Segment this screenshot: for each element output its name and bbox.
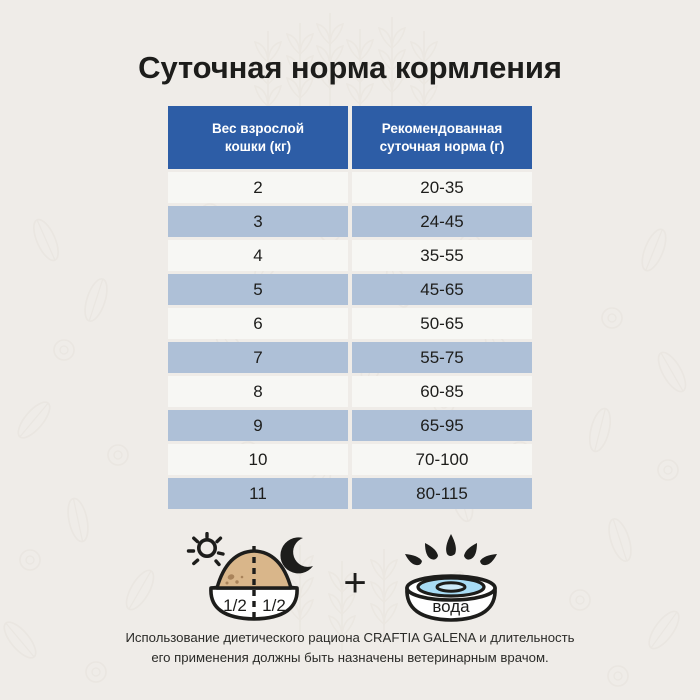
cell-norm: 70-100 [352,444,532,475]
table-row: 8 60-85 [168,376,532,407]
moon-icon [281,537,314,573]
table-row: 10 70-100 [168,444,532,475]
table-row: 6 50-65 [168,308,532,339]
splash-droplets [405,534,497,565]
table-header-norm-line2: суточная норма (г) [380,139,505,154]
table-row: 2 20-35 [168,172,532,203]
cell-norm: 80-115 [352,478,532,509]
table-row: 5 45-65 [168,274,532,305]
cell-weight: 11 [168,478,348,509]
cell-weight: 2 [168,172,348,203]
food-bowl-icon: 1/2 1/2 [179,532,329,624]
cell-weight: 5 [168,274,348,305]
cell-weight: 3 [168,206,348,237]
cell-norm: 50-65 [352,308,532,339]
cell-weight: 4 [168,240,348,271]
feeding-guide-page: Суточная норма кормления Вес взрослой ко… [0,0,700,700]
cell-norm: 60-85 [352,376,532,407]
water-label: вода [432,597,470,616]
water-bowl-icon: вода [381,532,521,624]
table-row: 9 65-95 [168,410,532,441]
table-row: 7 55-75 [168,342,532,373]
table-row: 11 80-115 [168,478,532,509]
cell-norm: 65-95 [352,410,532,441]
cell-norm: 24-45 [352,206,532,237]
cell-weight: 7 [168,342,348,373]
table-header-norm-line1: Рекомендованная [382,121,503,136]
plus-separator: + [343,563,366,603]
feeding-icons-row: 1/2 1/2 + вода [0,528,700,628]
table-row: 4 35-55 [168,240,532,271]
footer-line-2: его применения должны быть назначены вет… [0,648,700,668]
cell-norm: 55-75 [352,342,532,373]
daily-feeding-table: Вес взрослой кошки (кг) Рекомендованная … [168,106,532,512]
table-header-weight: Вес взрослой кошки (кг) [168,106,348,169]
table-header-weight-line2: кошки (кг) [225,139,291,154]
cell-weight: 10 [168,444,348,475]
table-row: 3 24-45 [168,206,532,237]
cell-norm: 35-55 [352,240,532,271]
table-header-norm: Рекомендованная суточная норма (г) [352,106,532,169]
cell-weight: 8 [168,376,348,407]
portion-label-evening: 1/2 [262,596,286,615]
table-header-row: Вес взрослой кошки (кг) Рекомендованная … [168,106,532,169]
sun-icon [189,534,224,565]
portion-label-morning: 1/2 [223,596,247,615]
table-header-weight-line1: Вес взрослой [212,121,304,136]
cell-norm: 45-65 [352,274,532,305]
cell-weight: 6 [168,308,348,339]
page-title: Суточная норма кормления [0,50,700,86]
cell-norm: 20-35 [352,172,532,203]
footer-disclaimer: Использование диетического рациона CRAFT… [0,628,700,669]
water-ripple [437,583,465,591]
footer-line-1: Использование диетического рациона CRAFT… [0,628,700,648]
cell-weight: 9 [168,410,348,441]
